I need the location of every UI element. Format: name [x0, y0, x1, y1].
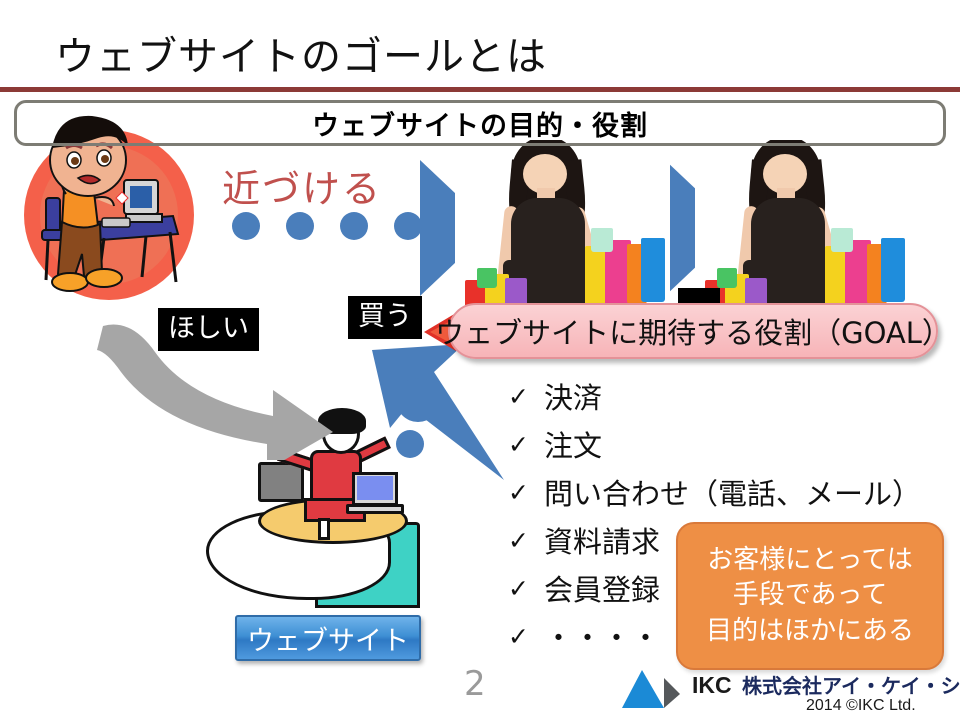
check-icon: ✓ [508, 382, 544, 411]
shopping-bag [591, 228, 613, 252]
website-button-label: ウェブサイト [247, 619, 409, 658]
shopping-bag [881, 238, 905, 302]
flow-dot [396, 430, 424, 458]
list-item: ✓ 注文 [508, 420, 921, 468]
check-icon: ✓ [508, 430, 544, 459]
flow-dot [340, 212, 368, 240]
keyword-label-buy: 買う [348, 296, 422, 339]
approach-label: 近づける [222, 158, 382, 213]
check-icon: ✓ [508, 478, 544, 507]
ikc-logo-icon [620, 668, 694, 710]
leg [318, 518, 330, 540]
note-line: お客様にとっては [707, 543, 912, 578]
check-icon: ✓ [508, 574, 544, 603]
list-item-label: 資料請求 [544, 519, 660, 561]
list-item-label: 注文 [544, 423, 602, 465]
goal-callout: ウェブサイトに期待する役割（GOAL） [448, 303, 938, 359]
copyright-text: 2014 ©IKC Ltd. [806, 697, 916, 715]
logo-wordmark: IKC [692, 672, 732, 699]
list-item-label: 決済 [544, 375, 602, 417]
note-line: 目的はほかにある [706, 614, 914, 649]
note-line: 手段であって [733, 578, 887, 613]
shopping-bag [641, 238, 665, 302]
check-icon: ✓ [508, 526, 544, 555]
keyword-label-want: ほしい [158, 308, 259, 351]
flow-dot [232, 212, 260, 240]
note-box: お客様にとっては 手段であって 目的はほかにある [676, 522, 944, 670]
flow-dot [286, 212, 314, 240]
list-item-label: 会員登録 [544, 567, 660, 609]
goal-callout-text: ウェブサイトに期待する役割（GOAL） [435, 310, 951, 352]
check-icon: ✓ [508, 622, 544, 651]
company-name: 株式会社アイ・ケイ・シー [742, 670, 960, 699]
website-button[interactable]: ウェブサイト [235, 615, 421, 661]
slide-root: ウェブサイトのゴールとは ウェブサイトの目的・役割 [0, 0, 960, 720]
shopping-bag [831, 228, 853, 252]
title-divider [0, 87, 960, 92]
subtitle-label: ウェブサイトの目的・役割 [312, 104, 648, 143]
subtitle-box: ウェブサイトの目的・役割 [14, 100, 946, 146]
page-title: ウェブサイトのゴールとは [55, 24, 547, 82]
list-item-label: 問い合わせ（電話、メール） [544, 471, 921, 513]
shopping-bag [477, 268, 497, 288]
list-item: ✓ 決済 [508, 372, 921, 420]
flow-dot [394, 212, 422, 240]
page-number: 2 [464, 664, 486, 704]
list-item: ✓ 問い合わせ（電話、メール） [508, 468, 921, 516]
list-item-label: ・・・・ [544, 615, 660, 657]
briefcase-icon [258, 462, 304, 502]
shopping-bag [717, 268, 737, 288]
